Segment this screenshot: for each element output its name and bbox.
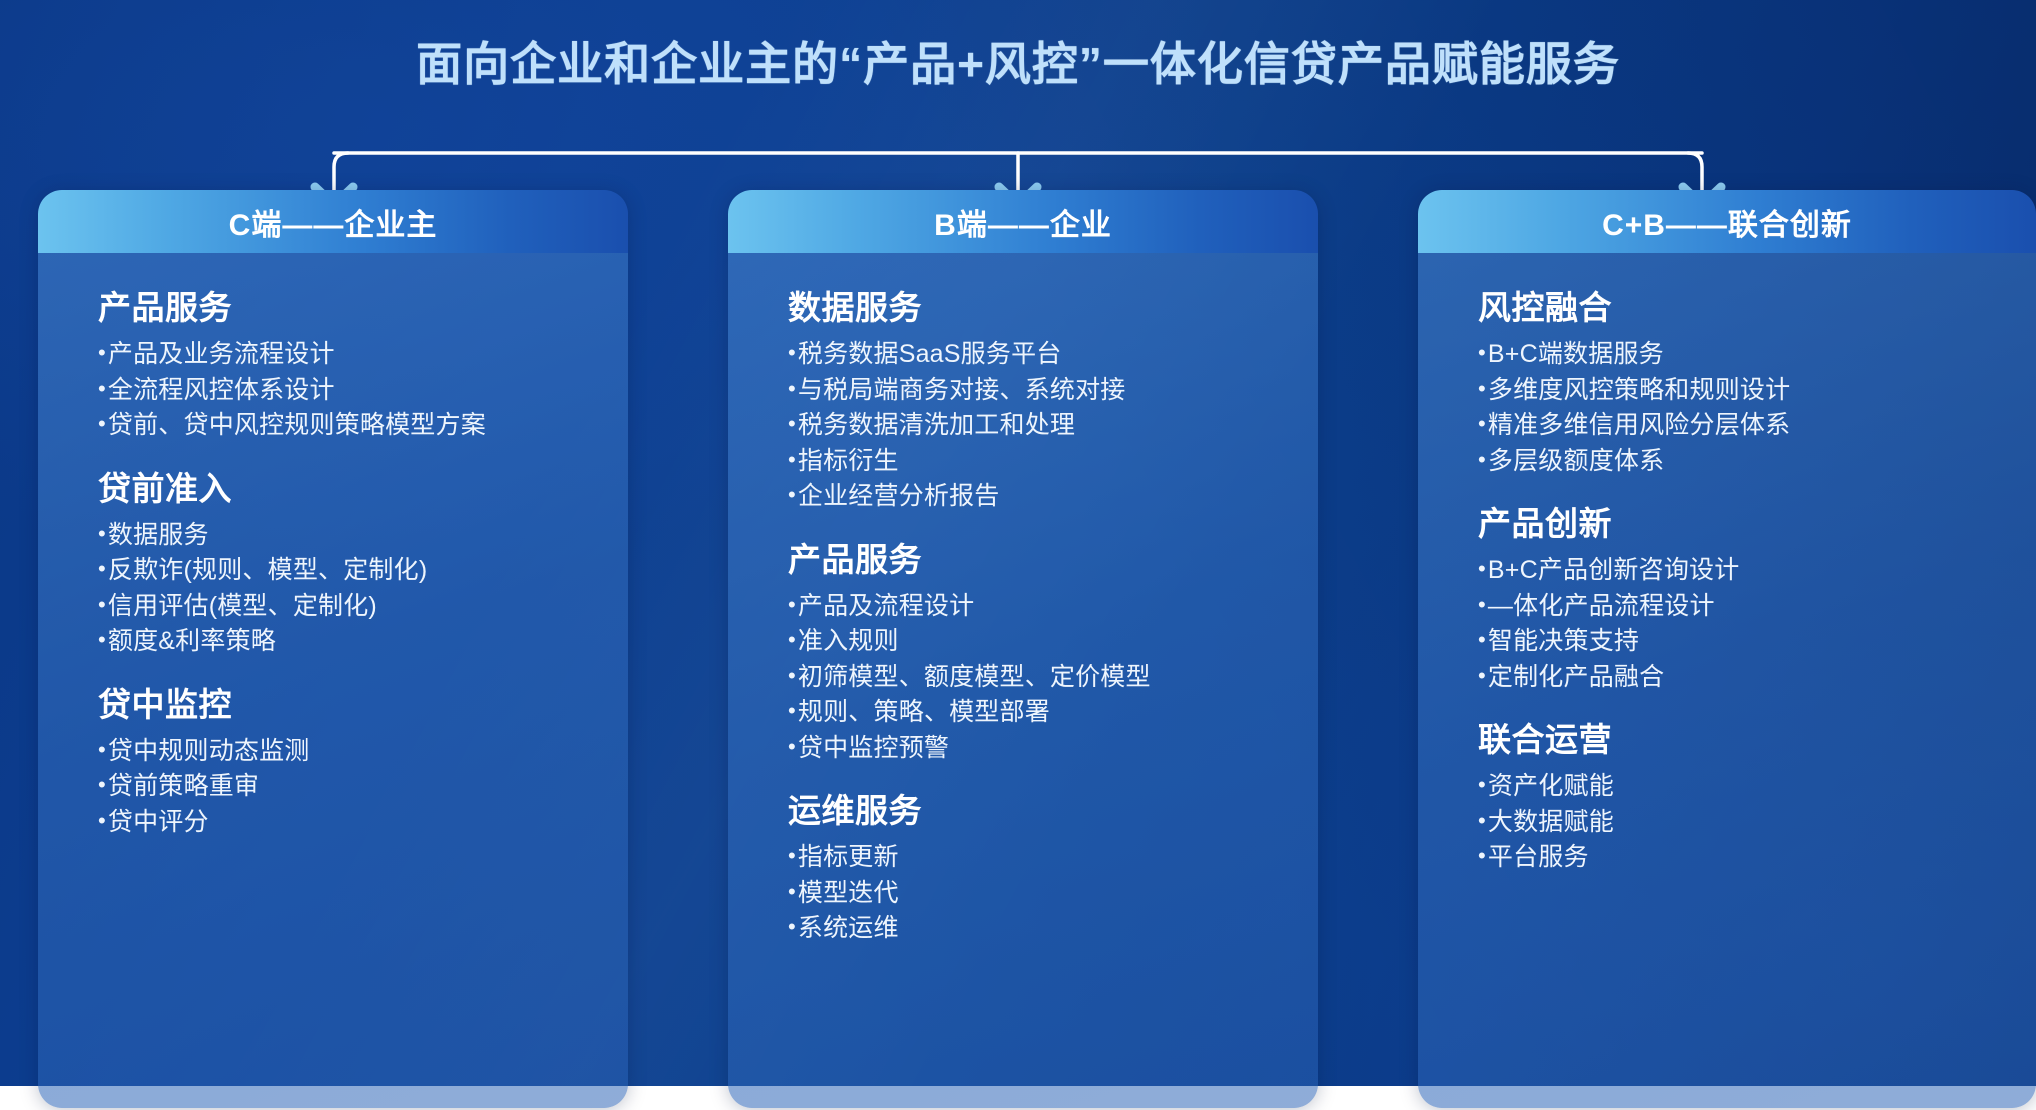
section-bullet-list: 资产化赋能 大数据赋能 平台服务 <box>1478 769 2036 876</box>
page-title: 面向企业和企业主的“产品+风控”一体化信贷产品赋能服务 <box>0 28 2036 94</box>
section-title: 贷前准入 <box>98 462 628 510</box>
list-item: 贷前、贷中风控规则策略模型方案 <box>98 408 628 444</box>
section-bullet-list: 贷中规则动态监测 贷前策略重审 贷中评分 <box>98 734 628 841</box>
list-item: 信用评估(模型、定制化) <box>98 589 628 625</box>
section-block: 贷前准入 数据服务 反欺诈(规则、模型、定制化) 信用评估(模型、定制化) 额度… <box>98 462 628 660</box>
card-header-c-plus-b: C+B——联合创新 <box>1418 190 2036 253</box>
section-block: 联合运营 资产化赋能 大数据赋能 平台服务 <box>1478 713 2036 876</box>
list-item: 模型迭代 <box>788 876 1318 912</box>
list-item: 指标衍生 <box>788 444 1318 480</box>
list-item: 贷中监控预警 <box>788 731 1318 767</box>
list-item: 大数据赋能 <box>1478 805 2036 841</box>
section-bullet-list: 产品及业务流程设计 全流程风控体系设计 贷前、贷中风控规则策略模型方案 <box>98 337 628 444</box>
section-bullet-list: B+C产品创新咨询设计 —体化产品流程设计 智能决策支持 定制化产品融合 <box>1478 553 2036 695</box>
section-block: 风控融合 B+C端数据服务 多维度风控策略和规则设计 精准多维信用风险分层体系 … <box>1478 281 2036 479</box>
section-title: 风控融合 <box>1478 281 2036 329</box>
section-title: 产品服务 <box>788 533 1318 581</box>
list-item: 与税局端商务对接、系统对接 <box>788 373 1318 409</box>
list-item: 准入规则 <box>788 624 1318 660</box>
section-title: 产品创新 <box>1478 497 2036 545</box>
section-bullet-list: B+C端数据服务 多维度风控策略和规则设计 精准多维信用风险分层体系 多层级额度… <box>1478 337 2036 479</box>
list-item: 初筛模型、额度模型、定价模型 <box>788 660 1318 696</box>
card-header-b-end: B端——企业 <box>728 190 1318 253</box>
card-body-c-end: 产品服务 产品及业务流程设计 全流程风控体系设计 贷前、贷中风控规则策略模型方案… <box>38 253 628 1108</box>
list-item: 产品及流程设计 <box>788 589 1318 625</box>
list-item: 资产化赋能 <box>1478 769 2036 805</box>
section-block: 产品服务 产品及业务流程设计 全流程风控体系设计 贷前、贷中风控规则策略模型方案 <box>98 281 628 444</box>
section-bullet-list: 税务数据SaaS服务平台 与税局端商务对接、系统对接 税务数据清洗加工和处理 指… <box>788 337 1318 515</box>
column-card-c-end[interactable]: C端——企业主 产品服务 产品及业务流程设计 全流程风控体系设计 贷前、贷中风控… <box>38 190 628 1108</box>
list-item: 全流程风控体系设计 <box>98 373 628 409</box>
section-title: 产品服务 <box>98 281 628 329</box>
section-title: 数据服务 <box>788 281 1318 329</box>
section-bullet-list: 产品及流程设计 准入规则 初筛模型、额度模型、定价模型 规则、策略、模型部署 贷… <box>788 589 1318 767</box>
list-item: 贷前策略重审 <box>98 769 628 805</box>
section-title: 联合运营 <box>1478 713 2036 761</box>
list-item: 贷中评分 <box>98 805 628 841</box>
list-item: 规则、策略、模型部署 <box>788 695 1318 731</box>
list-item: —体化产品流程设计 <box>1478 589 2036 625</box>
section-block: 运维服务 指标更新 模型迭代 系统运维 <box>788 784 1318 947</box>
column-card-b-end[interactable]: B端——企业 数据服务 税务数据SaaS服务平台 与税局端商务对接、系统对接 税… <box>728 190 1318 1108</box>
list-item: 企业经营分析报告 <box>788 479 1318 515</box>
section-block: 贷中监控 贷中规则动态监测 贷前策略重审 贷中评分 <box>98 678 628 841</box>
list-item: 平台服务 <box>1478 840 2036 876</box>
column-card-c-plus-b[interactable]: C+B——联合创新 风控融合 B+C端数据服务 多维度风控策略和规则设计 精准多… <box>1418 190 2036 1108</box>
section-bullet-list: 数据服务 反欺诈(规则、模型、定制化) 信用评估(模型、定制化) 额度&利率策略 <box>98 518 628 660</box>
list-item: 贷中规则动态监测 <box>98 734 628 770</box>
list-item: B+C端数据服务 <box>1478 337 2036 373</box>
section-bullet-list: 指标更新 模型迭代 系统运维 <box>788 840 1318 947</box>
list-item: 额度&利率策略 <box>98 624 628 660</box>
section-block: 产品服务 产品及流程设计 准入规则 初筛模型、额度模型、定价模型 规则、策略、模… <box>788 533 1318 767</box>
list-item: 定制化产品融合 <box>1478 660 2036 696</box>
list-item: 系统运维 <box>788 911 1318 947</box>
list-item: 多层级额度体系 <box>1478 444 2036 480</box>
card-body-c-plus-b: 风控融合 B+C端数据服务 多维度风控策略和规则设计 精准多维信用风险分层体系 … <box>1418 253 2036 1108</box>
list-item: 数据服务 <box>98 518 628 554</box>
card-header-c-end: C端——企业主 <box>38 190 628 253</box>
list-item: 多维度风控策略和规则设计 <box>1478 373 2036 409</box>
list-item: B+C产品创新咨询设计 <box>1478 553 2036 589</box>
list-item: 智能决策支持 <box>1478 624 2036 660</box>
list-item: 税务数据清洗加工和处理 <box>788 408 1318 444</box>
section-title: 贷中监控 <box>98 678 628 726</box>
connector-bracket <box>0 95 2036 205</box>
list-item: 反欺诈(规则、模型、定制化) <box>98 553 628 589</box>
section-block: 数据服务 税务数据SaaS服务平台 与税局端商务对接、系统对接 税务数据清洗加工… <box>788 281 1318 515</box>
card-body-b-end: 数据服务 税务数据SaaS服务平台 与税局端商务对接、系统对接 税务数据清洗加工… <box>728 253 1318 1108</box>
list-item: 税务数据SaaS服务平台 <box>788 337 1318 373</box>
section-title: 运维服务 <box>788 784 1318 832</box>
list-item: 产品及业务流程设计 <box>98 337 628 373</box>
list-item: 指标更新 <box>788 840 1318 876</box>
list-item: 精准多维信用风险分层体系 <box>1478 408 2036 444</box>
slide-canvas: 面向企业和企业主的“产品+风控”一体化信贷产品赋能服务 C端——企业主 产品服务 <box>0 0 2036 1110</box>
section-block: 产品创新 B+C产品创新咨询设计 —体化产品流程设计 智能决策支持 定制化产品融… <box>1478 497 2036 695</box>
